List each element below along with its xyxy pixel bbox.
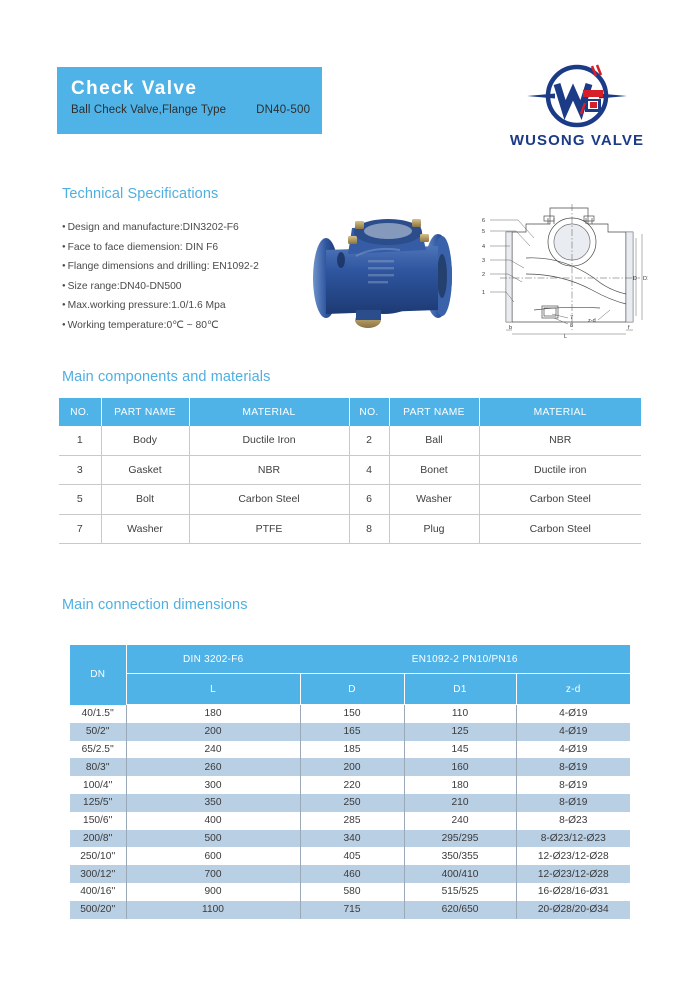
cell-dn: 200/8'' [70, 830, 126, 848]
cell-l: 1100 [126, 901, 300, 919]
cell-zd: 4-Ø19 [516, 741, 630, 759]
table-row: 100/4'' 300 220 180 8-Ø19 [70, 776, 630, 794]
cell-zd: 8-Ø23 [516, 812, 630, 830]
svg-text:2: 2 [482, 272, 485, 278]
cell-material: Carbon Steel [479, 514, 641, 544]
table-row: 200/8'' 500 340 295/295 8-Ø23/12-Ø23 [70, 830, 630, 848]
cell-zd: 4-Ø19 [516, 723, 630, 741]
col-header-material-left: MATERIAL [189, 398, 349, 426]
cell-material: Ductile iron [479, 455, 641, 485]
cell-d1: 125 [404, 723, 516, 741]
cell-l: 350 [126, 794, 300, 812]
spec-item: Design and manufacture:DIN3202-F6 [62, 218, 312, 238]
table-row: 50/2'' 200 165 125 4-Ø19 [70, 723, 630, 741]
table-row: 65/2.5'' 240 185 145 4-Ø19 [70, 741, 630, 759]
cell-d1: 400/410 [404, 865, 516, 883]
cell-d1: 160 [404, 758, 516, 776]
cell-l: 180 [126, 705, 300, 723]
cell-part-name: Body [101, 426, 189, 455]
cell-no: 6 [349, 485, 389, 515]
product-subtitle: Ball Check Valve,Flange Type [71, 104, 226, 116]
technical-specifications-list: Design and manufacture:DIN3202-F6 Face t… [62, 218, 312, 335]
cell-dn: 400/16'' [70, 883, 126, 901]
product-photo [296, 198, 468, 340]
svg-text:5: 5 [482, 229, 485, 235]
svg-text:D: D [633, 276, 637, 282]
table-header-row-sub: L D D1 z-d [70, 674, 630, 705]
cell-material: Ductile Iron [189, 426, 349, 455]
table-row: 80/3'' 260 200 160 8-Ø19 [70, 758, 630, 776]
company-logo: WUSONG VALVE [497, 62, 657, 162]
cell-l: 200 [126, 723, 300, 741]
cell-d: 150 [300, 705, 404, 723]
cell-zd: 8-Ø19 [516, 776, 630, 794]
col-header-d: D [300, 674, 404, 705]
svg-text:6: 6 [482, 218, 485, 224]
svg-text:b: b [509, 325, 512, 331]
check-valve-photo-illustration [296, 198, 468, 340]
table-header-row-group: DN DIN 3202-F6 EN1092-2 PN10/PN16 [70, 645, 630, 674]
main-components-materials-table: NO. PART NAME MATERIAL NO. PART NAME MAT… [59, 398, 641, 544]
cell-material: Carbon Steel [189, 485, 349, 515]
cell-part-name: Plug [389, 514, 479, 544]
svg-text:7: 7 [570, 315, 573, 321]
table-row: 5 Bolt Carbon Steel 6 Washer Carbon Stee… [59, 485, 641, 515]
col-header-group-din: DIN 3202-F6 [126, 645, 300, 674]
cell-d: 285 [300, 812, 404, 830]
cell-material: PTFE [189, 514, 349, 544]
cell-d: 250 [300, 794, 404, 812]
svg-text:3: 3 [482, 258, 485, 264]
cell-l: 260 [126, 758, 300, 776]
cell-part-name: Bonet [389, 455, 479, 485]
cell-d1: 295/295 [404, 830, 516, 848]
table-row: 1 Body Ductile Iron 2 Ball NBR [59, 426, 641, 455]
cell-dn: 300/12'' [70, 865, 126, 883]
cell-zd: 4-Ø19 [516, 705, 630, 723]
cell-d1: 110 [404, 705, 516, 723]
cell-d1: 515/525 [404, 883, 516, 901]
product-header-band: Check Valve Ball Check Valve,Flange Type… [57, 67, 322, 134]
svg-text:L: L [564, 334, 567, 340]
cell-dn: 500/20'' [70, 901, 126, 919]
cell-d: 220 [300, 776, 404, 794]
cell-d: 165 [300, 723, 404, 741]
cell-no: 4 [349, 455, 389, 485]
col-header-partname-right: PART NAME [389, 398, 479, 426]
cell-d1: 210 [404, 794, 516, 812]
cell-zd: 8-Ø23/12-Ø23 [516, 830, 630, 848]
table-row: 150/6'' 400 285 240 8-Ø23 [70, 812, 630, 830]
cell-d: 715 [300, 901, 404, 919]
spec-item: Flange dimensions and drilling: EN1092-2 [62, 257, 312, 277]
header-subtitle-row: Ball Check Valve,Flange Type DN40-500 [71, 104, 322, 116]
table-row: 7 Washer PTFE 8 Plug Carbon Steel [59, 514, 641, 544]
main-connection-dimensions-table: DN DIN 3202-F6 EN1092-2 PN10/PN16 L D D1… [70, 645, 631, 919]
table-row: 125/5'' 350 250 210 8-Ø19 [70, 794, 630, 812]
cell-dn: 150/6'' [70, 812, 126, 830]
col-header-l: L [126, 674, 300, 705]
cell-no: 2 [349, 426, 389, 455]
cell-l: 240 [126, 741, 300, 759]
col-header-no-right: NO. [349, 398, 389, 426]
table-row: 400/16'' 900 580 515/525 16-Ø28/16-Ø31 [70, 883, 630, 901]
cell-d1: 180 [404, 776, 516, 794]
table-row: 500/20'' 1100 715 620/650 20-Ø28/20-Ø34 [70, 901, 630, 919]
cell-zd: 8-Ø19 [516, 758, 630, 776]
cell-dn: 65/2.5'' [70, 741, 126, 759]
section-heading-materials: Main components and materials [62, 369, 270, 385]
company-name: WUSONG VALVE [497, 132, 657, 149]
col-header-material-right: MATERIAL [479, 398, 641, 426]
cell-no: 7 [59, 514, 101, 544]
svg-text:4: 4 [482, 244, 485, 250]
page-title: Check Valve [71, 76, 322, 102]
table-row: 250/10'' 600 405 350/355 12-Ø23/12-Ø28 [70, 847, 630, 865]
cell-part-name: Washer [389, 485, 479, 515]
cell-zd: 12-Ø23/12-Ø28 [516, 865, 630, 883]
check-valve-section-drawing: 6 5 4 3 2 1 7 8 z-d L D D1 b f [476, 198, 648, 340]
col-header-dn: DN [70, 645, 126, 705]
cell-d: 580 [300, 883, 404, 901]
cell-l: 700 [126, 865, 300, 883]
cell-l: 900 [126, 883, 300, 901]
spec-item: Face to face diemension: DIN F6 [62, 238, 312, 258]
cell-l: 600 [126, 847, 300, 865]
cell-d1: 240 [404, 812, 516, 830]
section-heading-technical: Technical Specifications [62, 186, 218, 202]
table-row: 3 Gasket NBR 4 Bonet Ductile iron [59, 455, 641, 485]
cell-no: 1 [59, 426, 101, 455]
cell-l: 400 [126, 812, 300, 830]
cell-d1: 350/355 [404, 847, 516, 865]
cell-dn: 100/4'' [70, 776, 126, 794]
cell-l: 300 [126, 776, 300, 794]
col-header-partname-left: PART NAME [101, 398, 189, 426]
cell-d: 185 [300, 741, 404, 759]
cell-d: 200 [300, 758, 404, 776]
cell-no: 8 [349, 514, 389, 544]
cell-no: 3 [59, 455, 101, 485]
cell-material: NBR [479, 426, 641, 455]
cell-l: 500 [126, 830, 300, 848]
spec-item: Max.working pressure:1.0/1.6 Mpa [62, 296, 312, 316]
section-heading-dimensions: Main connection dimensions [62, 597, 248, 613]
table-header-row: NO. PART NAME MATERIAL NO. PART NAME MAT… [59, 398, 641, 426]
col-header-group-en: EN1092-2 PN10/PN16 [300, 645, 630, 674]
svg-text:D1: D1 [643, 276, 648, 282]
spec-item: Size range:DN40-DN500 [62, 277, 312, 297]
cell-material: Carbon Steel [479, 485, 641, 515]
cell-part-name: Gasket [101, 455, 189, 485]
cell-material: NBR [189, 455, 349, 485]
cell-dn: 125/5'' [70, 794, 126, 812]
svg-text:1: 1 [482, 290, 485, 296]
spec-item: Working temperature:0℃ ~ 80℃ [62, 316, 312, 336]
cell-dn: 250/10'' [70, 847, 126, 865]
technical-drawing: 6 5 4 3 2 1 7 8 z-d L D D1 b f [476, 198, 648, 340]
cell-part-name: Bolt [101, 485, 189, 515]
cell-no: 5 [59, 485, 101, 515]
col-header-zd: z-d [516, 674, 630, 705]
cell-zd: 20-Ø28/20-Ø34 [516, 901, 630, 919]
svg-text:8: 8 [570, 323, 573, 329]
col-header-d1: D1 [404, 674, 516, 705]
cell-dn: 80/3'' [70, 758, 126, 776]
svg-text:z-d: z-d [588, 318, 596, 324]
cell-d1: 145 [404, 741, 516, 759]
product-size-range: DN40-500 [256, 104, 310, 116]
cell-zd: 8-Ø19 [516, 794, 630, 812]
cell-d: 460 [300, 865, 404, 883]
cell-zd: 12-Ø23/12-Ø28 [516, 847, 630, 865]
wusong-logo-icon [497, 62, 657, 134]
cell-d: 340 [300, 830, 404, 848]
cell-dn: 40/1.5'' [70, 705, 126, 723]
cell-part-name: Washer [101, 514, 189, 544]
table-row: 300/12'' 700 460 400/410 12-Ø23/12-Ø28 [70, 865, 630, 883]
cell-part-name: Ball [389, 426, 479, 455]
cell-dn: 50/2'' [70, 723, 126, 741]
cell-zd: 16-Ø28/16-Ø31 [516, 883, 630, 901]
col-header-no-left: NO. [59, 398, 101, 426]
cell-d1: 620/650 [404, 901, 516, 919]
table-row: 40/1.5'' 180 150 110 4-Ø19 [70, 705, 630, 723]
cell-d: 405 [300, 847, 404, 865]
